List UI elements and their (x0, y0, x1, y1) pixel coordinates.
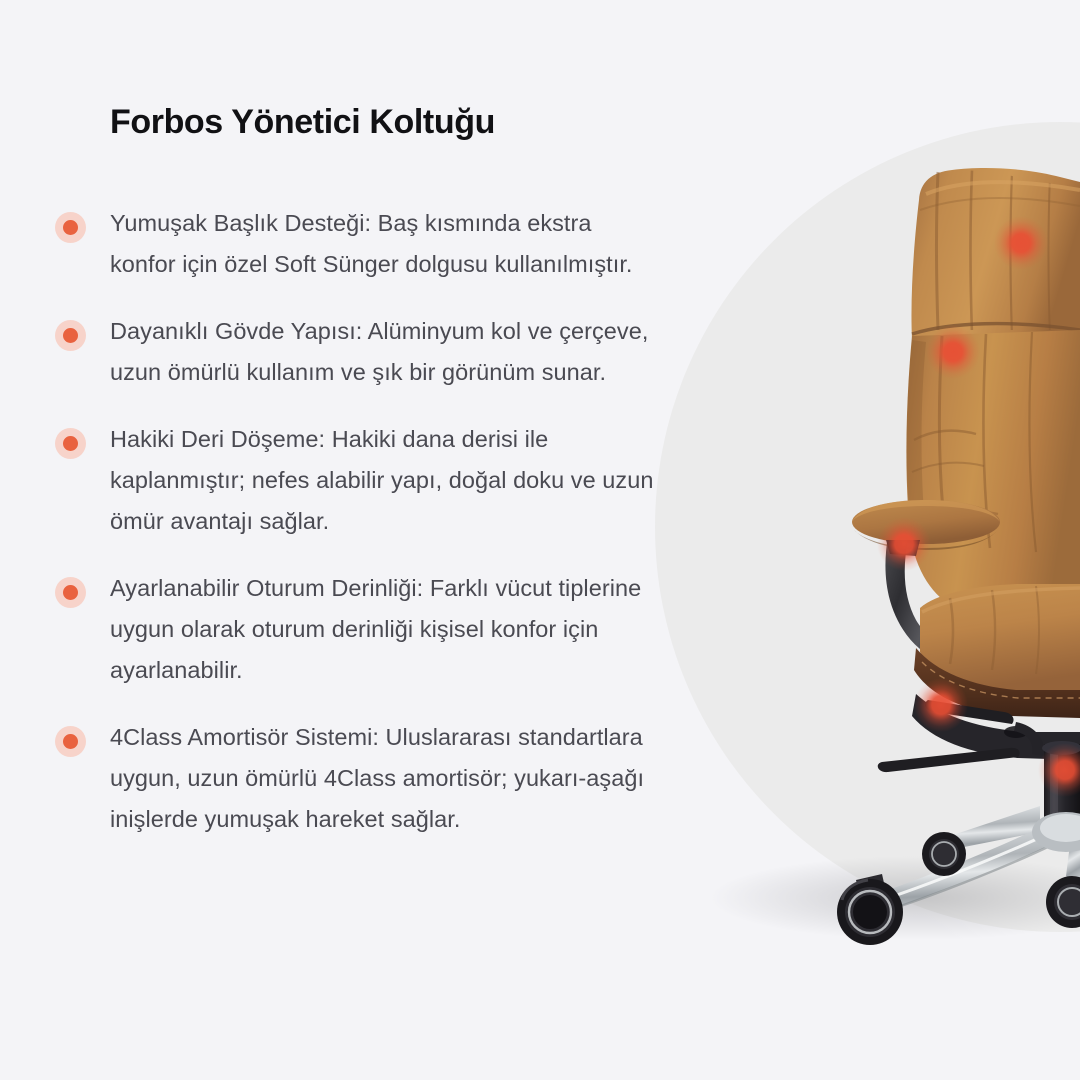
hotspot-headrest[interactable] (994, 216, 1048, 270)
page-title: Forbos Yönetici Koltuğu (110, 103, 495, 142)
feature-item-1: Yumuşak Başlık Desteği: Baş kısmında eks… (55, 203, 655, 285)
feature-item-4: Ayarlanabilir Oturum Derinliği: Farklı v… (55, 568, 655, 691)
bullet-dot-icon (55, 212, 86, 243)
bullet-dot-icon (55, 577, 86, 608)
feature-text: Hakiki Deri Döşeme: Hakiki dana derisi i… (110, 419, 655, 542)
bullet-dot-icon (55, 726, 86, 757)
feature-item-3: Hakiki Deri Döşeme: Hakiki dana derisi i… (55, 419, 655, 542)
feature-list: Yumuşak Başlık Desteği: Baş kısmında eks… (55, 203, 655, 840)
infographic-canvas: Forbos Yönetici Koltuğu Yumuşak Başlık D… (0, 0, 1080, 1080)
product-image-panel (620, 0, 1080, 1080)
hotspot-tilt-lever[interactable] (914, 678, 968, 732)
feature-item-5: 4Class Amortisör Sistemi: Uluslararası s… (55, 717, 655, 840)
office-chair-illustration (620, 0, 1080, 1080)
height-paddle-lever (878, 748, 1020, 772)
chair-backrest (906, 330, 1080, 620)
feature-text: Dayanıklı Gövde Yapısı: Alüminyum kol ve… (110, 311, 655, 393)
caster-rear (922, 832, 966, 876)
hotspot-armrest-frame[interactable] (877, 517, 931, 571)
bullet-dot-icon (55, 428, 86, 459)
feature-text: 4Class Amortisör Sistemi: Uluslararası s… (110, 717, 655, 840)
feature-item-2: Dayanıklı Gövde Yapısı: Alüminyum kol ve… (55, 311, 655, 393)
content-column: Forbos Yönetici Koltuğu Yumuşak Başlık D… (0, 0, 660, 1080)
bullet-dot-icon (55, 320, 86, 351)
hotspot-backrest[interactable] (926, 325, 980, 379)
feature-text: Yumuşak Başlık Desteği: Baş kısmında eks… (110, 203, 655, 285)
feature-text: Ayarlanabilir Oturum Derinliği: Farklı v… (110, 568, 655, 691)
